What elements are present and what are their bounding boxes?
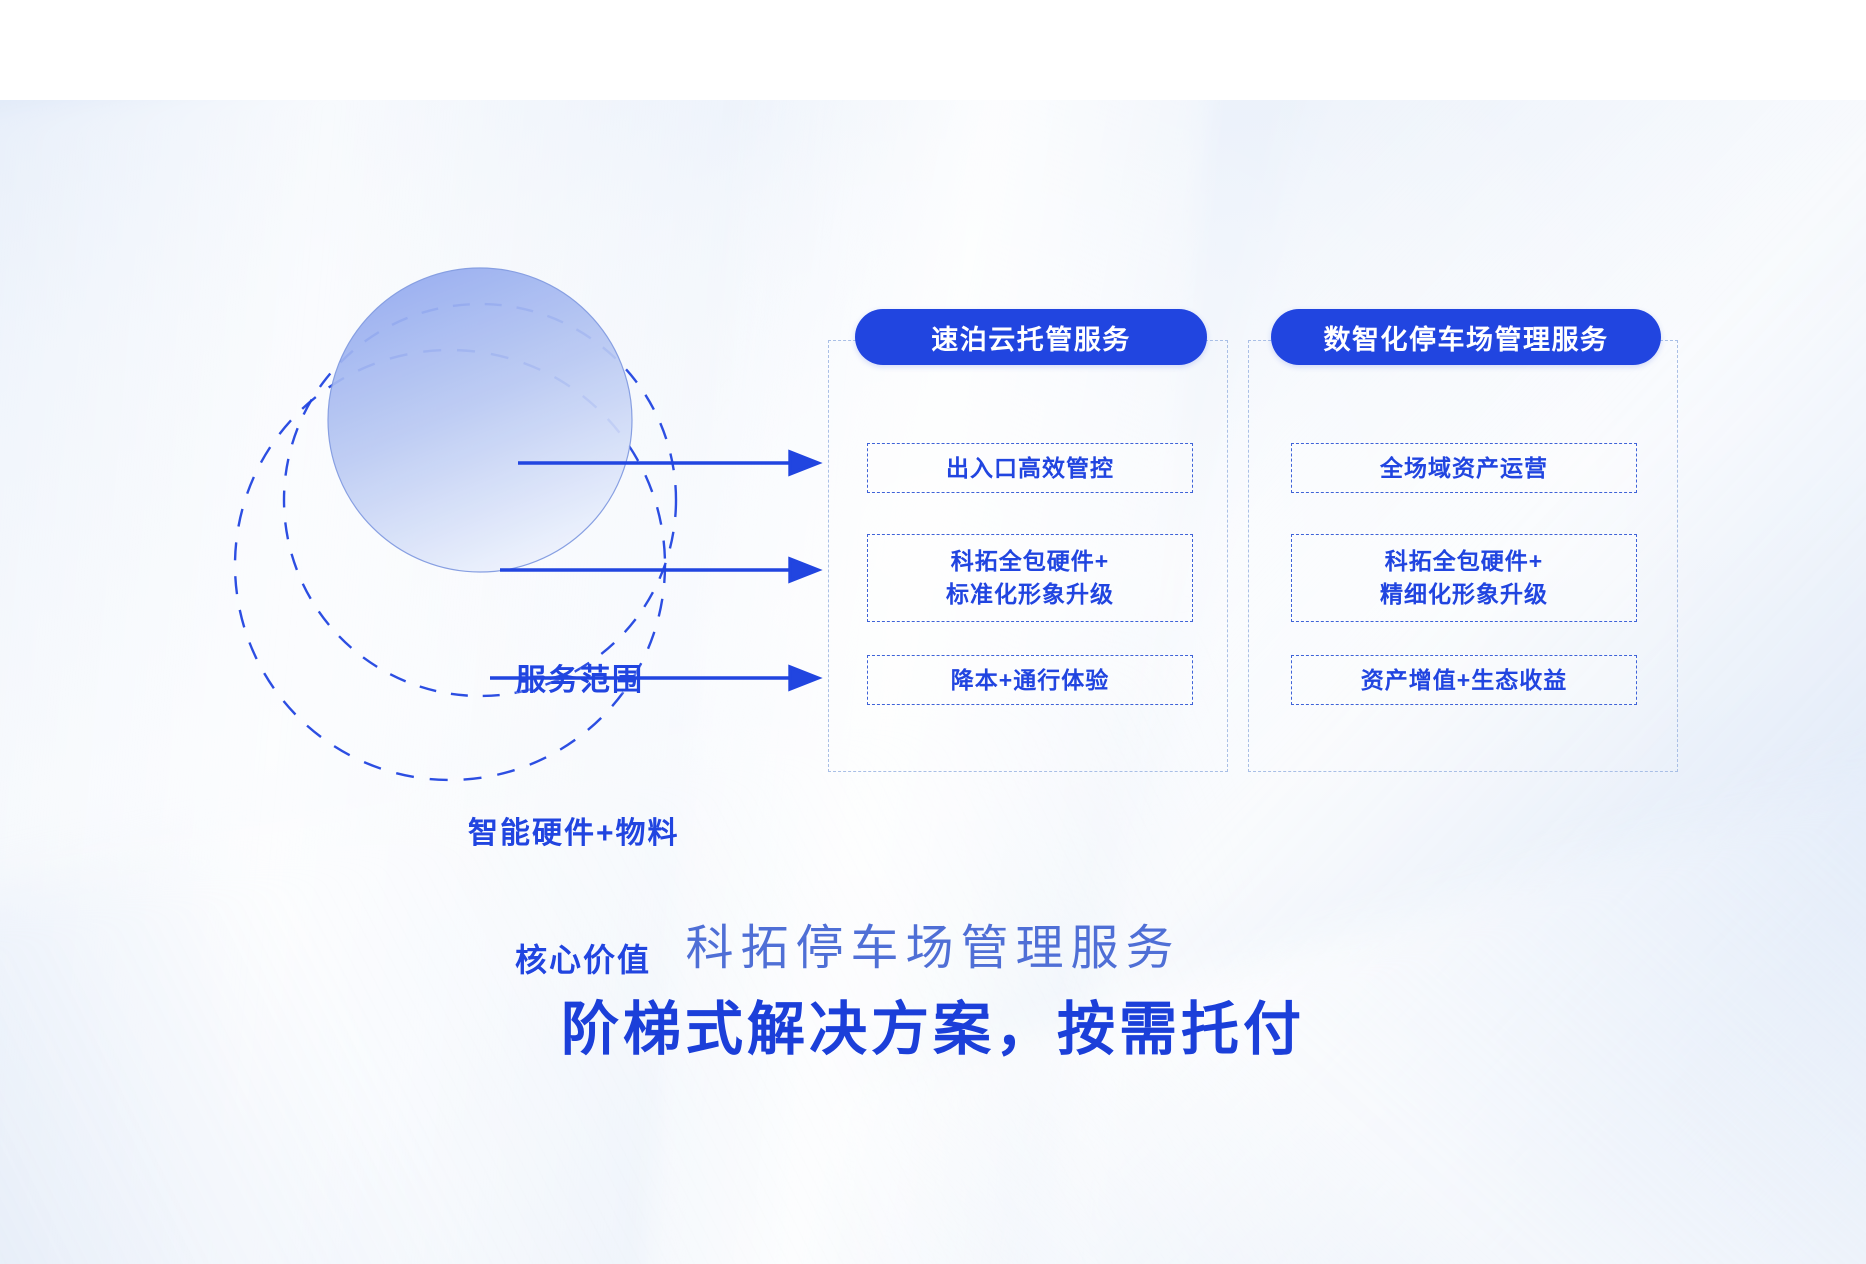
panel-right-row-2[interactable]: 科拓全包硬件+ 精细化形象升级 <box>1291 534 1637 622</box>
panel-title-supo-cloud[interactable]: 速泊云托管服务 <box>855 309 1207 365</box>
panel-left-row-2[interactable]: 科拓全包硬件+ 标准化形象升级 <box>867 534 1193 622</box>
panel-left-row-1[interactable]: 出入口高效管控 <box>867 443 1193 493</box>
circle-label-smart-hardware: 智能硬件+物料 <box>468 808 680 852</box>
footer-title: 阶梯式解决方案，按需托付 <box>0 982 1866 1066</box>
circles-svg <box>150 230 770 800</box>
concentric-circles-graphic: 服务范围 智能硬件+物料 核心价值 <box>150 230 770 800</box>
panel-left-row-3-line-1: 降本+通行体验 <box>951 664 1109 697</box>
panel-left-row-1-line-1: 出入口高效管控 <box>946 452 1114 485</box>
inner-gradient-circle <box>328 268 632 572</box>
panel-right-row-2-line-1: 科拓全包硬件+ <box>1385 545 1543 578</box>
slide-canvas: 服务范围 智能硬件+物料 核心价值 速泊云托管服务 出入口高效管控 科拓全包硬件… <box>0 0 1866 1264</box>
panel-left-row-3[interactable]: 降本+通行体验 <box>867 655 1193 705</box>
circle-label-service-scope: 服务范围 <box>516 655 644 699</box>
panel-left-row-2-line-2: 标准化形象升级 <box>946 578 1114 611</box>
panel-right-row-3[interactable]: 资产增值+生态收益 <box>1291 655 1637 705</box>
panel-left-row-2-line-1: 科拓全包硬件+ <box>951 545 1109 578</box>
panel-digital-intelligent[interactable]: 数智化停车场管理服务 全场域资产运营 科拓全包硬件+ 精细化形象升级 资产增值+… <box>1248 340 1678 772</box>
footer-subtitle: 科拓停车场管理服务 <box>0 908 1866 978</box>
panel-right-row-3-line-1: 资产增值+生态收益 <box>1361 664 1567 697</box>
panel-title-digital-intelligent[interactable]: 数智化停车场管理服务 <box>1271 309 1661 365</box>
panel-right-row-1-line-1: 全场域资产运营 <box>1380 452 1548 485</box>
panel-right-row-2-line-2: 精细化形象升级 <box>1380 578 1548 611</box>
panel-right-row-1[interactable]: 全场域资产运营 <box>1291 443 1637 493</box>
panel-supo-cloud[interactable]: 速泊云托管服务 出入口高效管控 科拓全包硬件+ 标准化形象升级 降本+通行体验 <box>828 340 1228 772</box>
top-white-band <box>0 0 1866 100</box>
